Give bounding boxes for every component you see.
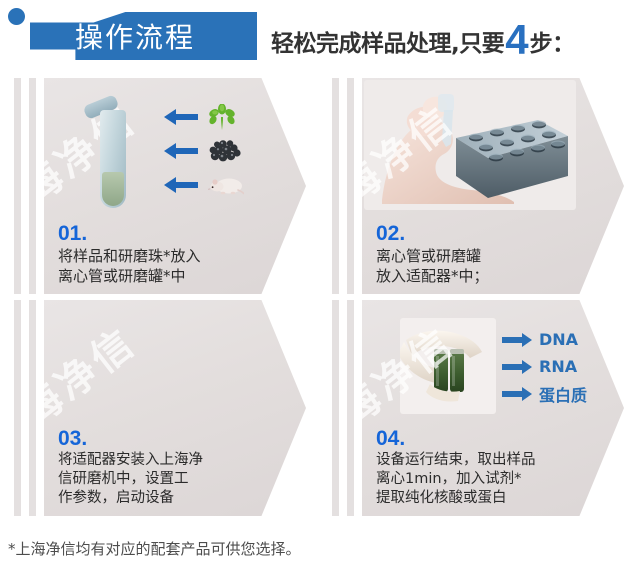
hand-holding-adapter-photo — [364, 80, 576, 210]
step-text-line: 将适配器安装入上海净 — [58, 451, 290, 470]
decor-stripe — [347, 78, 354, 294]
step-card-01: 上海净信 — [0, 78, 318, 294]
result-label: 蛋白质 — [539, 382, 587, 406]
step-number: 03. — [58, 428, 290, 450]
arrow-left-icon — [164, 143, 198, 159]
step-text-line: 作参数，启动设备 — [58, 489, 290, 508]
result-row: RNA — [502, 353, 617, 380]
step-number: 01. — [58, 223, 290, 245]
step-card-03: 上海净信 03. 将适配器安装入上海净 信研磨机中，设置工 作参数，启动设备 — [0, 300, 318, 516]
step-text-line: 信研磨机中，设置工 — [58, 470, 290, 489]
step-text-line: 放入适配器*中； — [376, 266, 608, 286]
step-panel-body: 上海净信 DNA RNA — [362, 300, 624, 516]
sample-row-animal — [164, 174, 279, 196]
step-number: 02. — [376, 223, 608, 245]
step-text-line: 离心管或研磨罐*中 — [58, 266, 290, 286]
headline: 轻松完成样品处理,只要 4 步： — [271, 16, 575, 60]
step-panel-body: 上海净信 02. 离心管或研磨罐 放入适配器*中； — [362, 78, 624, 294]
arrow-left-icon — [164, 109, 198, 125]
step-card-04: 上海净信 DNA RNA — [318, 300, 636, 516]
decor-stripe — [332, 300, 339, 516]
decor-stripe — [347, 300, 354, 516]
result-label: DNA — [539, 330, 578, 349]
decor-stripe — [14, 300, 21, 516]
headline-prefix: 轻松完成样品处理,只要 — [271, 24, 504, 58]
leaf-icon — [208, 104, 236, 130]
arrow-right-icon — [502, 360, 532, 374]
step-number: 04. — [376, 428, 608, 450]
result-label: RNA — [539, 357, 577, 376]
banner-dot-icon — [8, 8, 25, 25]
sample-row-plant — [164, 106, 279, 128]
step-panel-body: 上海净信 03. 将适配器安装入上海净 信研磨机中，设置工 作参数，启动设备 — [44, 300, 306, 516]
result-list: DNA RNA 蛋白质 — [502, 326, 617, 407]
arrow-left-icon — [164, 177, 198, 193]
arrow-right-icon — [502, 333, 532, 347]
step-caption: 01. 将样品和研磨珠*放入 离心管或研磨罐*中 — [58, 223, 290, 286]
grinder-machine-photo — [92, 314, 272, 434]
centrifuge-tube-icon — [96, 100, 130, 212]
headline-step-count: 4 — [504, 19, 529, 61]
step-text-line: 将样品和研磨珠*放入 — [58, 246, 290, 266]
mouse-icon — [208, 174, 244, 196]
page-header: 操作流程 轻松完成样品处理,只要 4 步： — [0, 0, 636, 72]
decor-stripe — [29, 78, 36, 294]
step-panel-body: 上海净信 — [44, 78, 306, 294]
step-card-02: 上海净信 02. 离心管或研磨罐 放入适配器*中； — [318, 78, 636, 294]
decor-stripe — [14, 78, 21, 294]
sample-row-beads — [164, 140, 279, 162]
step-caption: 03. 将适配器安装入上海净 信研磨机中，设置工 作参数，启动设备 — [58, 428, 290, 508]
decor-stripe — [332, 78, 339, 294]
step-caption: 02. 离心管或研磨罐 放入适配器*中； — [376, 223, 608, 286]
result-row: DNA — [502, 326, 617, 353]
step-caption: 04. 设备运行结束，取出样品 离心1min，加入试剂* 提取纯化核酸或蛋白 — [376, 428, 608, 508]
step-text-line: 离心1min，加入试剂* — [376, 470, 608, 489]
gloved-hand-tubes-photo — [400, 318, 496, 414]
decor-stripe — [29, 300, 36, 516]
headline-suffix: 步： — [530, 24, 575, 58]
page-title: 操作流程 — [75, 18, 250, 58]
footnote: *上海净信均有对应的配套产品可供您选择。 — [8, 536, 568, 562]
grinding-beads-icon — [208, 140, 242, 162]
step-text-line: 设备运行结束，取出样品 — [376, 451, 608, 470]
arrow-right-icon — [502, 387, 532, 401]
result-row: 蛋白质 — [502, 380, 617, 407]
step-text-line: 离心管或研磨罐 — [376, 246, 608, 266]
step-text-line: 提取纯化核酸或蛋白 — [376, 489, 608, 508]
steps-grid: 上海净信 — [0, 78, 636, 528]
